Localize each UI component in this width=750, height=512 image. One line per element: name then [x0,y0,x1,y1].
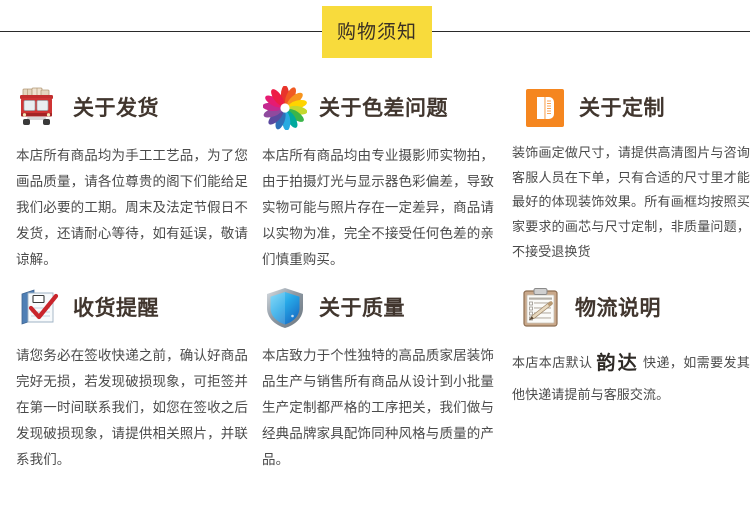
header-rule-left [0,31,322,32]
notice-card-logistics: 物流说明 本店本店默认韵达快递，如需要发其他快递请提前与客服交流。 [512,284,750,410]
card-title: 收货提醒 [73,298,159,319]
card-body: 本店本店默认韵达快递，如需要发其他快递请提前与客服交流。 [512,344,750,410]
card-header: 物流说明 [512,284,750,332]
card-body: 请您务必在签收快递之前，确认好商品完好无损，若发现破损现象，可拒签并在第一时间联… [16,344,248,474]
header-badge: 购物须知 [322,6,432,58]
clipboard-pen-icon [518,285,564,331]
logistics-text-prefix: 本店本店默认 [512,356,592,371]
custom-book-icon [522,85,568,131]
card-header: 关于质量 [262,284,494,332]
notice-card-customization: 关于定制 装饰画定做尺寸，请提供高清图片与咨询客服人员在下单，只有合适的尺寸里才… [512,84,750,265]
notice-card-color-difference: 关于色差问题 本店所有商品均由专业摄影师实物拍，由于拍摄灯光与显示器色彩偏差，导… [262,84,494,274]
card-body: 装饰画定做尺寸，请提供高清图片与咨询客服人员在下单，只有合适的尺寸里才能最好的体… [512,142,750,265]
card-body: 本店所有商品均由专业摄影师实物拍，由于拍摄灯光与显示器色彩偏差，导致实物可能与照… [262,144,494,274]
card-body: 本店致力于个性独特的高品质家居装饰品生产与销售所有商品从设计到小批量生产定制都严… [262,344,494,474]
card-title: 关于发货 [73,98,159,119]
card-header: 关于定制 [512,84,750,132]
courier-brand-label: 韵达 [592,352,643,374]
color-wheel-icon [262,85,308,131]
delivery-truck-icon [16,85,62,131]
card-header: 收货提醒 [16,284,248,332]
notice-card-receiving-reminder: 收货提醒 请您务必在签收快递之前，确认好商品完好无损，若发现破损现象，可拒签并在… [16,284,248,474]
notice-card-shipping: 关于发货 本店所有商品均为手工工艺品，为了您画品质量，请各位尊贵的阁下们能给足我… [16,84,248,274]
card-header: 关于色差问题 [262,84,494,132]
clipboard-check-icon [16,285,62,331]
card-title: 关于质量 [319,298,405,319]
shopping-notice-page: 购物须知 [0,0,750,512]
header-rule-right [432,31,750,32]
page-header: 购物须知 [0,0,750,62]
card-title: 物流说明 [575,298,661,319]
card-title: 关于色差问题 [319,98,448,119]
notice-card-quality: 关于质量 本店致力于个性独特的高品质家居装饰品生产与销售所有商品从设计到小批量生… [262,284,494,474]
notice-card-grid: 关于发货 本店所有商品均为手工工艺品，为了您画品质量，请各位尊贵的阁下们能给足我… [0,70,750,512]
card-title: 关于定制 [579,98,665,119]
card-header: 关于发货 [16,84,248,132]
shield-icon [262,285,308,331]
page-title: 购物须知 [337,23,417,42]
card-body: 本店所有商品均为手工工艺品，为了您画品质量，请各位尊贵的阁下们能给足我们必要的工… [16,144,248,274]
